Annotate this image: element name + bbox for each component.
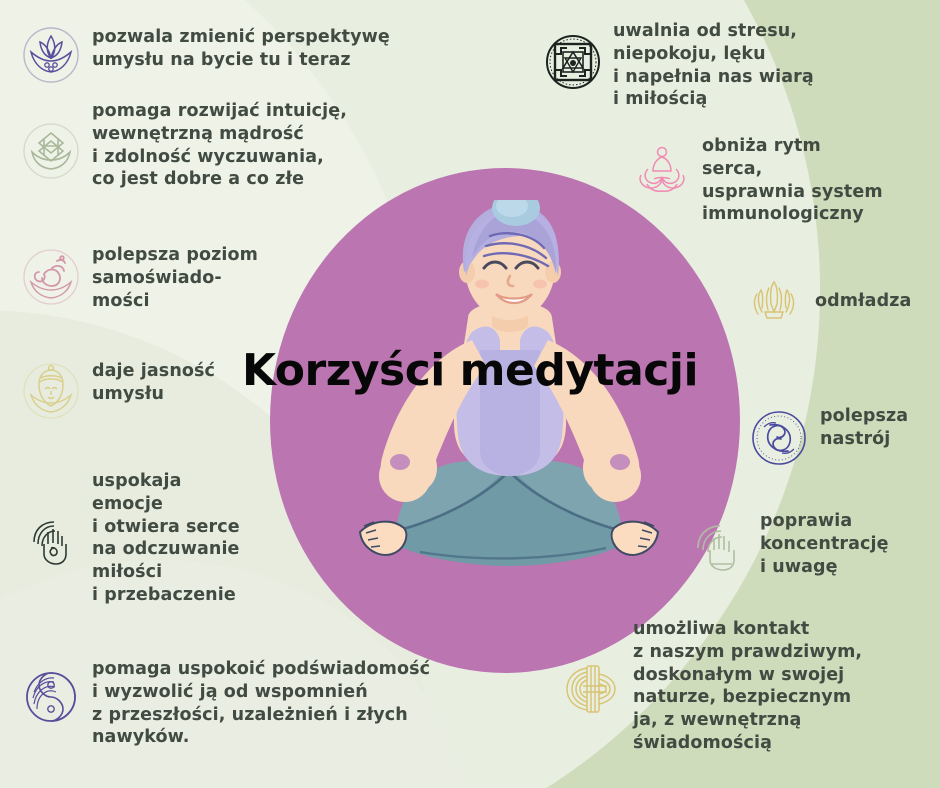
benefit-text: obniża rytm serca, usprawnia system immu… (702, 135, 883, 226)
benefit-item-concentration: poprawia koncentrację i uwagę (690, 510, 940, 578)
praying-hands-icon (745, 272, 803, 330)
benefit-item-emotions: uspokaja emocje i otwiera serce na odczu… (24, 470, 324, 607)
page-title: Korzyści medytacji (0, 349, 940, 393)
benefit-text: odmładza (815, 290, 911, 313)
benefit-text: polepsza poziom samoświado- mości (92, 244, 258, 312)
meditating-woman-illustration (300, 200, 720, 630)
endless-knot-icon (22, 122, 80, 180)
lotus-icon (22, 26, 80, 84)
benefit-item-mood: polepsza nastrój (750, 405, 940, 467)
benefit-item-stress: uwalnia od stresu, niepokoju, lęku i nap… (545, 20, 940, 111)
sri-yantra-icon (545, 34, 601, 90)
scroll-knot-icon (563, 660, 621, 718)
benefit-item-heart-rate: obniża rytm serca, usprawnia system immu… (634, 135, 940, 226)
infographic-poster: Korzyści medytacji pozwala zmienić persp… (0, 0, 940, 788)
benefit-text: pozwala zmienić perspektywę umysłu na by… (92, 26, 390, 72)
yin-yang-icon (22, 668, 80, 726)
hamsa-hand-icon (24, 514, 80, 570)
om-icon (22, 248, 80, 306)
lotus-meditation-icon (634, 143, 690, 199)
benefit-text: pomaga rozwijać intuicję, wewnętrzną mąd… (92, 100, 347, 191)
benefit-item-true-self: umożliwa kontakt z naszym prawdziwym, do… (563, 618, 940, 755)
benefit-text: pomaga uspokoić podświadomość i wyzwolić… (92, 658, 430, 749)
benefit-item-subconscious: pomaga uspokoić podświadomość i wyzwolić… (22, 658, 582, 749)
benefit-item-self-awareness: polepsza poziom samoświado- mości (22, 244, 362, 312)
open-hand-icon (690, 518, 748, 576)
benefit-item-intuition: pomaga rozwijać intuicję, wewnętrzną mąd… (22, 100, 562, 191)
benefit-text: umożliwa kontakt z naszym prawdziwym, do… (633, 618, 862, 755)
benefit-text: poprawia koncentrację i uwagę (760, 510, 889, 578)
benefit-text: uspokaja emocje i otwiera serce na odczu… (92, 470, 240, 607)
benefit-text: polepsza nastrój (820, 405, 908, 451)
benefit-item-perspective: pozwala zmienić perspektywę umysłu na by… (22, 26, 552, 84)
benefit-item-rejuvenates: odmładza (745, 272, 940, 330)
pisces-fish-icon (750, 409, 808, 467)
benefit-text: uwalnia od stresu, niepokoju, lęku i nap… (613, 20, 814, 111)
